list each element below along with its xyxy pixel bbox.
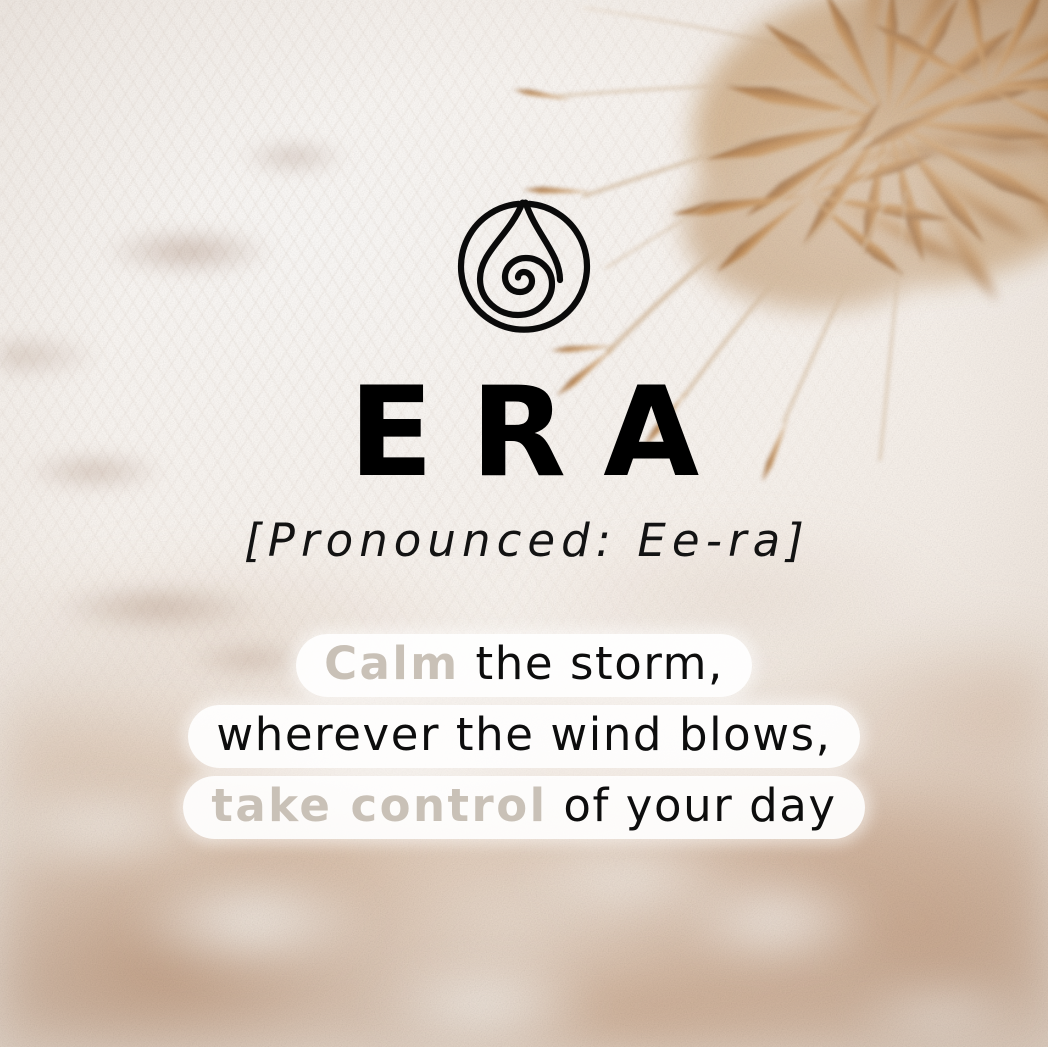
brand-card: ERA [Pronounced: Ee-ra] Calm the storm, … [0, 0, 1048, 1047]
tagline-line-2: wherever the wind blows, [188, 705, 859, 768]
tagline-rest-1: the storm, [460, 637, 724, 690]
tagline-line-1: Calm the storm, [296, 634, 752, 697]
tagline-line-3: take control of your day [183, 776, 864, 839]
wordmark: ERA [0, 371, 1048, 495]
tagline-accent-3: take control [211, 779, 547, 832]
brand-content: ERA [Pronounced: Ee-ra] Calm the storm, … [0, 0, 1048, 1047]
tagline-block: Calm the storm, wherever the wind blows,… [0, 634, 1048, 839]
spiral-droplet-circle-icon [454, 196, 594, 336]
tagline-rest-2: wherever the wind blows, [216, 708, 831, 761]
tagline-rest-3: of your day [548, 779, 837, 832]
pronunciation-text: [Pronounced: Ee-ra] [0, 514, 1048, 568]
tagline-accent-1: Calm [324, 637, 460, 690]
